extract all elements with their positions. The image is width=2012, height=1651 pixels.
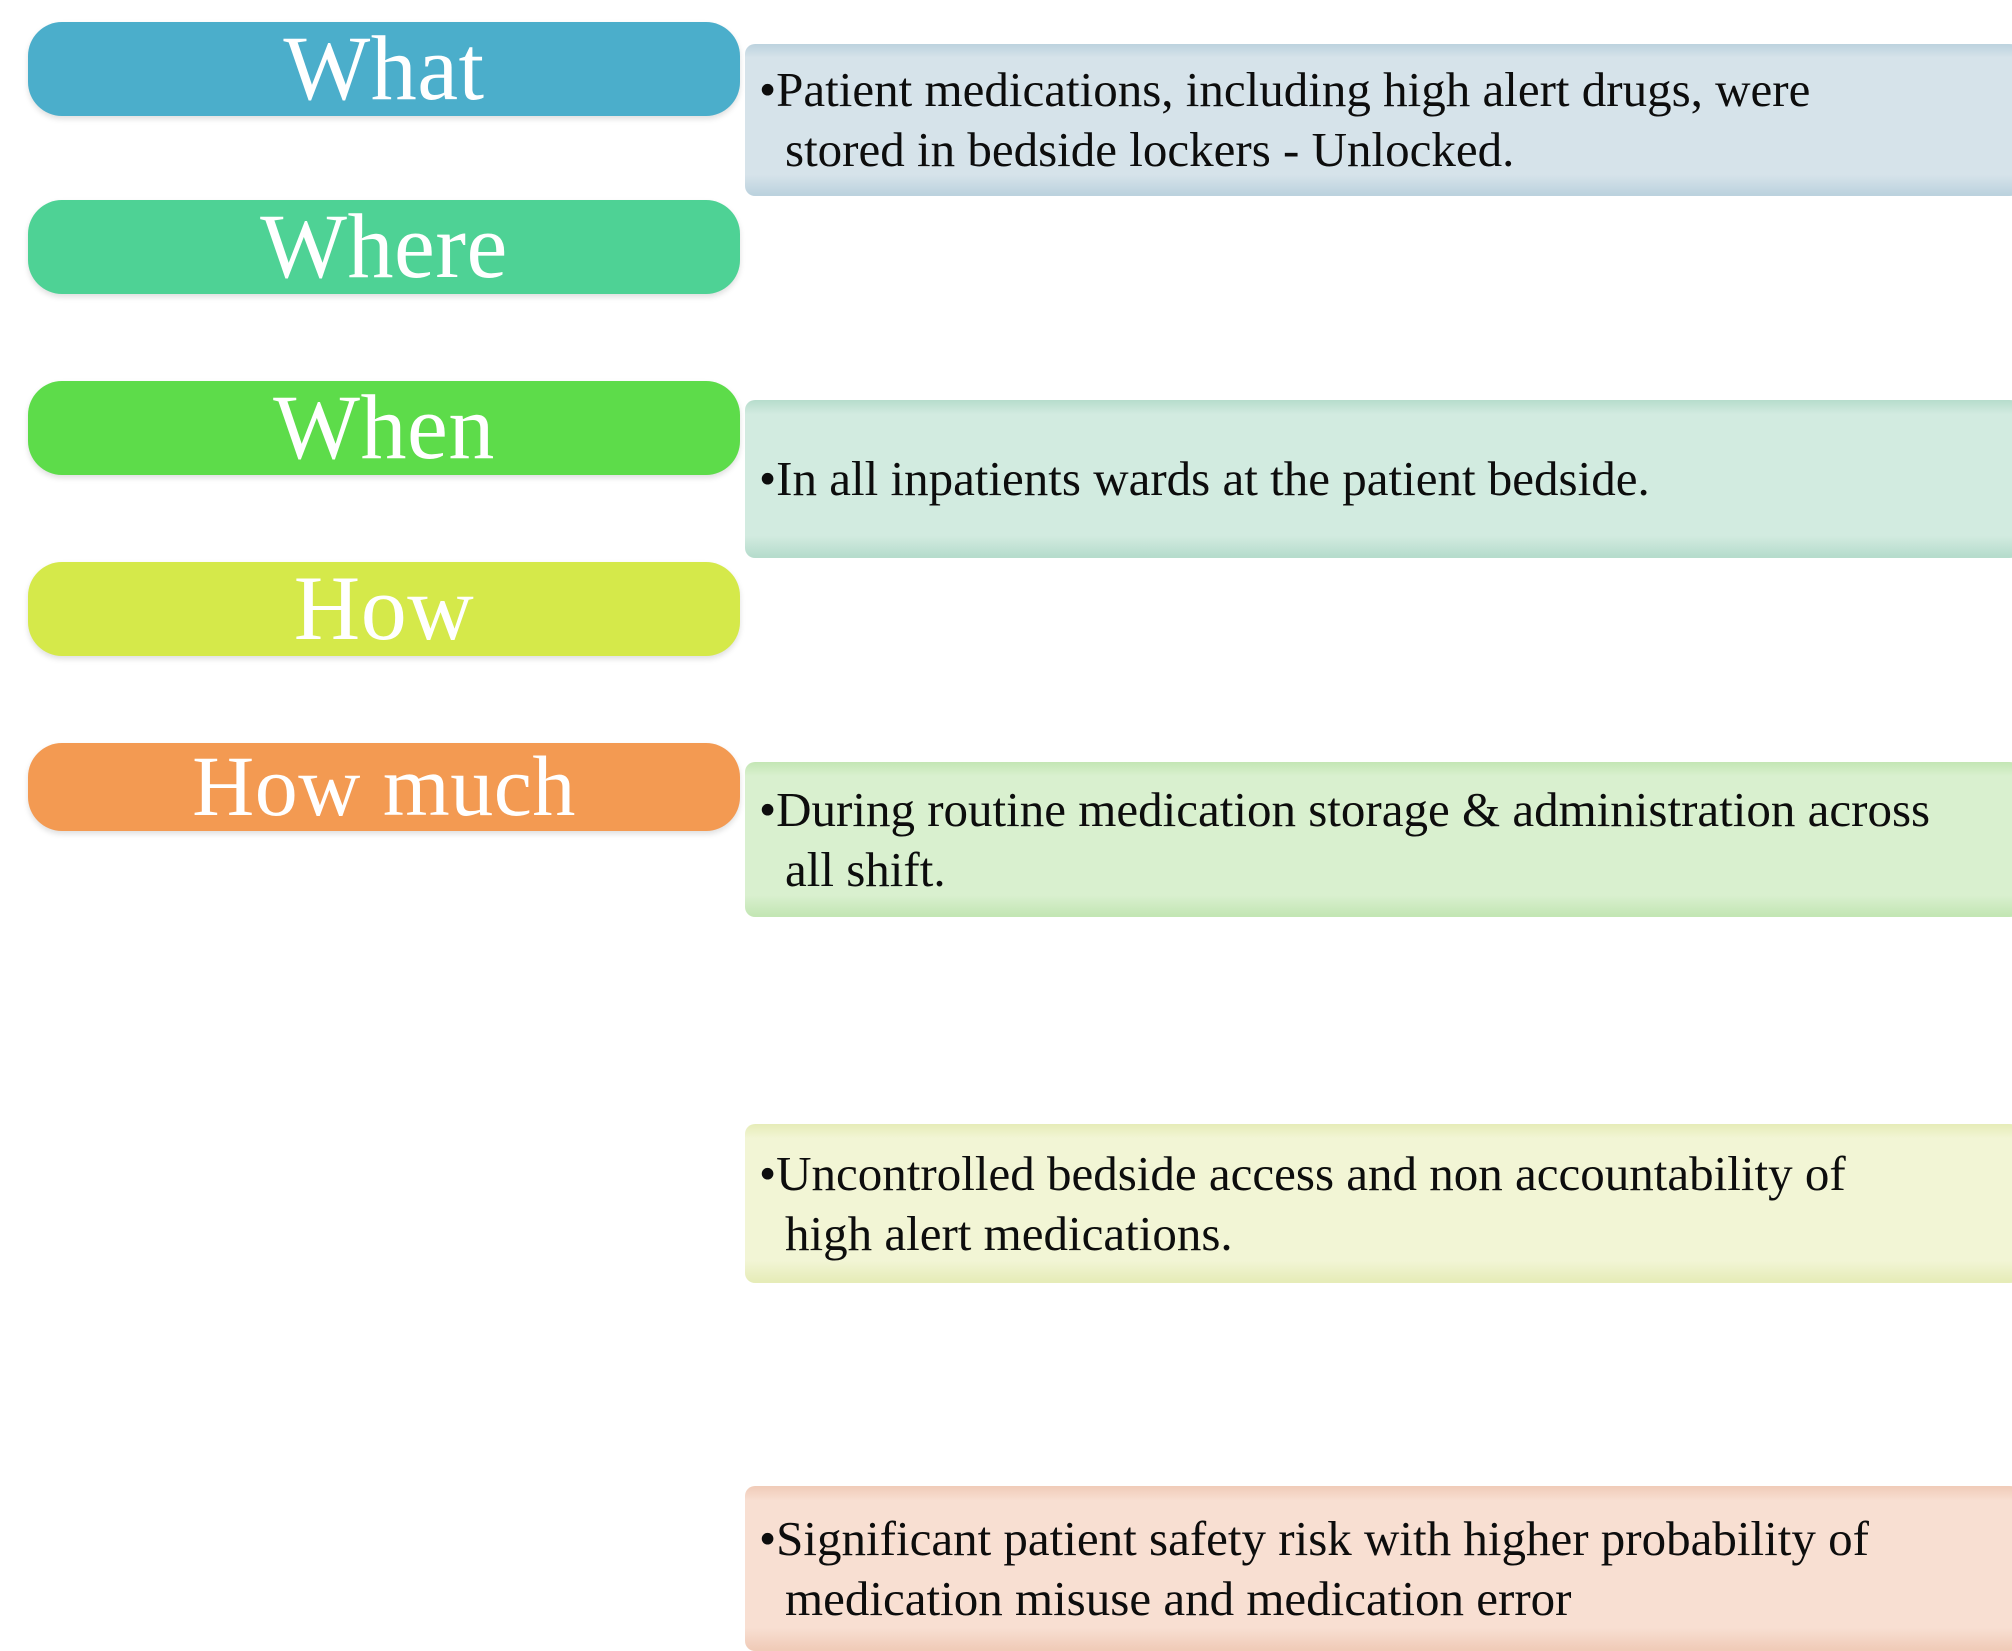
row-how: How •Uncontrolled bedside access and non… bbox=[0, 562, 2012, 721]
panel-body-how-much: Significant patient safety risk with hig… bbox=[776, 1511, 1869, 1626]
row-what: What •Patient medications, including hig… bbox=[0, 22, 2012, 174]
panel-what[interactable]: •Patient medications, including high ale… bbox=[745, 44, 2012, 196]
panel-how[interactable]: •Uncontrolled bedside access and non acc… bbox=[745, 1124, 2012, 1283]
pill-how[interactable]: How bbox=[28, 562, 740, 656]
bullet-icon: • bbox=[759, 1511, 776, 1566]
pill-label-how-much: How much bbox=[192, 743, 576, 831]
panel-body-how: Uncontrolled bedside access and non acco… bbox=[776, 1146, 1845, 1261]
panel-how-much[interactable]: •Significant patient safety risk with hi… bbox=[745, 1486, 2012, 1651]
row-when: When •During routine medication storage … bbox=[0, 381, 2012, 536]
pill-when[interactable]: When bbox=[28, 381, 740, 475]
pill-how-much[interactable]: How much bbox=[28, 743, 740, 831]
panel-text-how: •Uncontrolled bedside access and non acc… bbox=[759, 1144, 1935, 1264]
pill-label-when: When bbox=[273, 381, 495, 475]
bullet-icon: • bbox=[759, 1146, 776, 1201]
pill-where[interactable]: Where bbox=[28, 200, 740, 294]
row-how-much: How much •Significant patient safety ris… bbox=[0, 743, 2012, 908]
panel-text-what: •Patient medications, including high ale… bbox=[759, 60, 1935, 180]
pill-label-where: Where bbox=[260, 200, 508, 294]
pill-label-how: How bbox=[294, 562, 474, 656]
panel-body-what: Patient medications, including high aler… bbox=[776, 62, 1810, 177]
row-where: Where •In all inpatients wards at the pa… bbox=[0, 200, 2012, 358]
pill-label-what: What bbox=[283, 22, 484, 116]
pill-what[interactable]: What bbox=[28, 22, 740, 116]
panel-text-how-much: •Significant patient safety risk with hi… bbox=[759, 1509, 1935, 1629]
slide-canvas: What •Patient medications, including hig… bbox=[0, 0, 2012, 1206]
bullet-icon: • bbox=[759, 62, 776, 117]
